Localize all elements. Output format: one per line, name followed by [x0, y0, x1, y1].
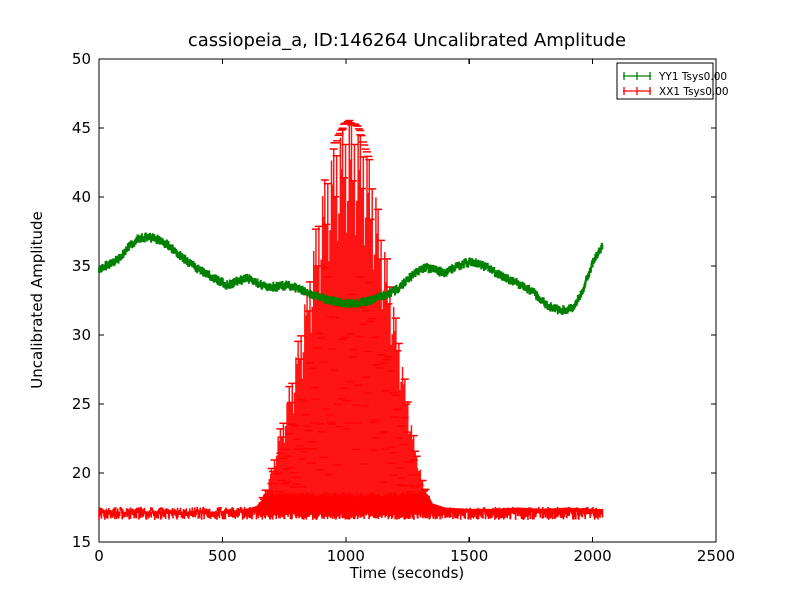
y-tick-label: 15: [72, 533, 91, 551]
x-tick-label: 2500: [697, 547, 735, 565]
legend-label: XX1 Tsys0.00: [659, 86, 729, 98]
legend[interactable]: YY1 Tsys0.00XX1 Tsys0.00: [617, 63, 729, 99]
series-xx1: [99, 120, 602, 519]
data-series-layer: [99, 120, 602, 519]
y-tick-label: 25: [72, 395, 91, 413]
page-title: cassiopeia_a, ID:146264 Uncalibrated Amp…: [188, 30, 626, 51]
legend-label: YY1 Tsys0.00: [658, 71, 727, 83]
y-tick-label: 40: [72, 188, 91, 206]
y-tick-label: 50: [72, 50, 91, 68]
y-tick-label: 30: [72, 326, 91, 344]
x-tick-label: 0: [94, 547, 104, 565]
x-tick-label: 1000: [327, 547, 365, 565]
x-tick-label: 2000: [574, 547, 612, 565]
x-tick-label: 1500: [450, 547, 488, 565]
x-axis-label: Time (seconds): [349, 564, 465, 582]
y-tick-label: 35: [72, 257, 91, 275]
x-tick-label: 500: [208, 547, 237, 565]
y-tick-label: 45: [72, 119, 91, 137]
y-tick-label: 20: [72, 464, 91, 482]
amplitude-plot: cassiopeia_a, ID:146264 Uncalibrated Amp…: [0, 0, 800, 600]
figure-canvas: cassiopeia_a, ID:146264 Uncalibrated Amp…: [0, 0, 800, 600]
y-axis-label: Uncalibrated Amplitude: [28, 211, 46, 388]
